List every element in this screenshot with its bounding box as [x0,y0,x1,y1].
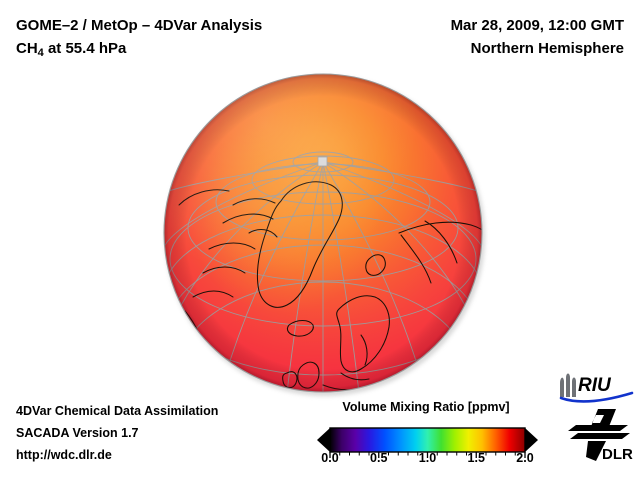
colorbar-tick-label: 2.0 [516,451,533,465]
colorbar-title: Volume Mixing Ratio [ppmv] [312,400,540,414]
instrument-title: GOME–2 / MetOp – 4DVar Analysis [16,14,346,37]
timestamp-label: Mar 28, 2009, 12:00 GMT [324,14,624,37]
colorbar-graphic: 0.00.51.01.52.0 [310,418,545,466]
colorbar-extend-high-arrow [525,428,538,452]
species-level-line: CH4 at 55.4 hPa [16,37,346,65]
globe-sheen [164,74,482,392]
colorbar-tick-label: 0.0 [321,451,338,465]
riu-wordmark: RIU [578,375,612,396]
pressure-level-label: at 55.4 hPa [44,40,127,57]
riu-logo: RIU [558,371,636,403]
version-label: SACADA Version 1.7 [16,422,218,444]
colorbar-extend-low-arrow [317,428,330,452]
riu-towers-icon [560,374,576,398]
globe-map [163,73,483,393]
website-url[interactable]: http://wdc.dlr.de [16,444,218,466]
footer-left-block: 4DVar Chemical Data Assimilation SACADA … [16,400,218,466]
species-label: CH [16,40,38,57]
colorbar: Volume Mixing Ratio [ppmv] 0.00.51.01.52… [310,400,545,466]
colorbar-tick-label: 1.0 [419,451,436,465]
colorbar-tick-labels: 0.00.51.01.52.0 [310,451,545,467]
header-left-block: GOME–2 / MetOp – 4DVar Analysis CH4 at 5… [16,14,346,65]
riu-logo-svg: RIU [558,371,636,403]
colorbar-tick-label: 1.5 [468,451,485,465]
project-label: 4DVar Chemical Data Assimilation [16,400,218,422]
hemisphere-label: Northern Hemisphere [324,37,624,60]
north-pole-marker [318,157,327,166]
dlr-logo-svg: DLR [566,407,636,463]
dlr-logo: DLR [566,407,636,463]
dlr-wordmark: DLR [602,446,633,463]
colorbar-gradient-bar [330,428,525,452]
globe-orthographic-svg [163,73,483,393]
header-right-block: Mar 28, 2009, 12:00 GMT Northern Hemisph… [324,14,624,60]
colorbar-tick-label: 0.5 [370,451,387,465]
